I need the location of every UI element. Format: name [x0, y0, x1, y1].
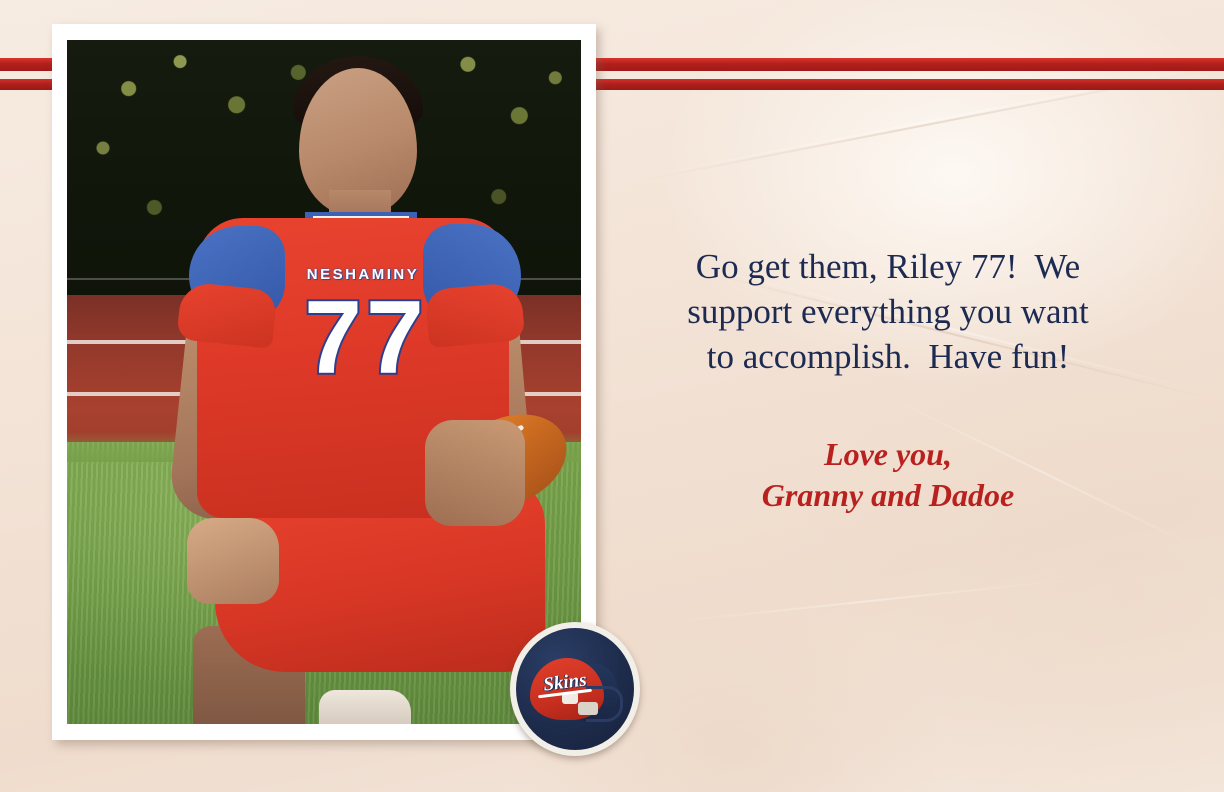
message-line: Go get them, Riley 77! We	[628, 244, 1148, 289]
tribute-message: Go get them, Riley 77! We support everyt…	[628, 244, 1148, 379]
jersey-number: 77	[281, 286, 451, 390]
photo-frame: NESHAMINY 77	[52, 24, 596, 740]
badge-field: Skins	[516, 628, 634, 750]
player-photo: NESHAMINY 77	[67, 40, 581, 724]
paper-crease	[661, 578, 1079, 624]
yearbook-tribute-page: NESHAMINY 77 Skins Go get them, Riley 77…	[0, 0, 1224, 792]
team-logo-badge: Skins	[510, 622, 640, 756]
signature-line: Granny and Dadoe	[628, 475, 1148, 516]
player-left-hand	[187, 518, 279, 604]
player-foot	[319, 690, 411, 724]
helmet-chinstrap-icon	[578, 702, 598, 715]
message-line: support everything you want	[628, 289, 1148, 334]
jersey-sleeve-left	[176, 281, 278, 349]
tribute-signature: Love you, Granny and Dadoe	[628, 434, 1148, 516]
signature-line: Love you,	[628, 434, 1148, 475]
player-right-hand	[425, 420, 525, 526]
message-line: to accomplish. Have fun!	[628, 334, 1148, 379]
